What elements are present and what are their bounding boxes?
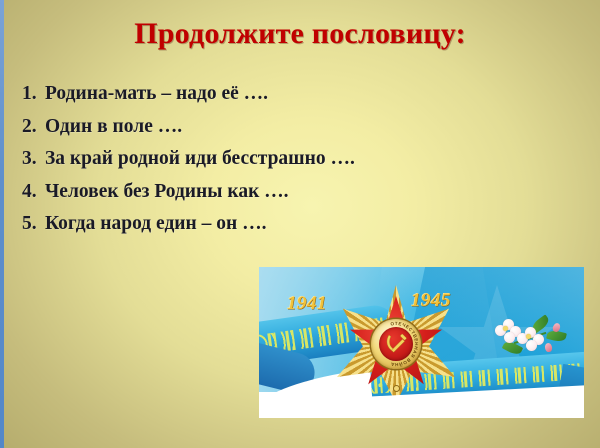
victory-banner-image: 1941 1945 ОТЕЧЕСТВЕННАЯ ВОЙНА — [259, 267, 584, 418]
petal — [526, 340, 537, 351]
list-item: 5. Когда народ един – он …. — [22, 214, 492, 234]
list-item-number: 1. — [22, 84, 41, 104]
list-item: 1. Родина-мать – надо её …. — [22, 84, 492, 104]
list-item-number: 5. — [22, 214, 41, 234]
list-item-text: Один в поле …. — [45, 117, 182, 137]
blossom-center — [503, 326, 508, 331]
list-item: 3. За край родной иди бесстрашно …. — [22, 149, 492, 169]
medal-bottom-ornament — [394, 386, 399, 391]
list-item-text: Родина-мать – надо её …. — [45, 84, 268, 104]
slide-canvas: Продолжите пословицу: 1. Родина-мать – н… — [0, 0, 600, 448]
proverb-list: 1. Родина-мать – надо её …. 2. Один в по… — [22, 84, 492, 247]
list-item-text: Человек без Родины как …. — [45, 182, 289, 202]
list-item-number: 3. — [22, 149, 41, 169]
list-item-text: Когда народ един – он …. — [45, 214, 267, 234]
hammer-and-sickle-icon — [383, 331, 409, 357]
year-start-label: 1941 — [287, 293, 327, 315]
petal — [504, 332, 515, 343]
list-item-number: 2. — [22, 117, 41, 137]
order-of-patriotic-war-medal: ОТЕЧЕСТВЕННАЯ ВОЙНА — [335, 283, 457, 405]
left-edge-stripe — [0, 0, 4, 448]
list-item-text: За край родной иди бесстрашно …. — [45, 149, 355, 169]
list-item: 2. Один в поле …. — [22, 117, 492, 137]
blossom-center — [526, 334, 531, 339]
page-title: Продолжите пословицу: — [0, 17, 600, 51]
list-item: 4. Человек без Родины как …. — [22, 182, 492, 202]
list-item-number: 4. — [22, 182, 41, 202]
